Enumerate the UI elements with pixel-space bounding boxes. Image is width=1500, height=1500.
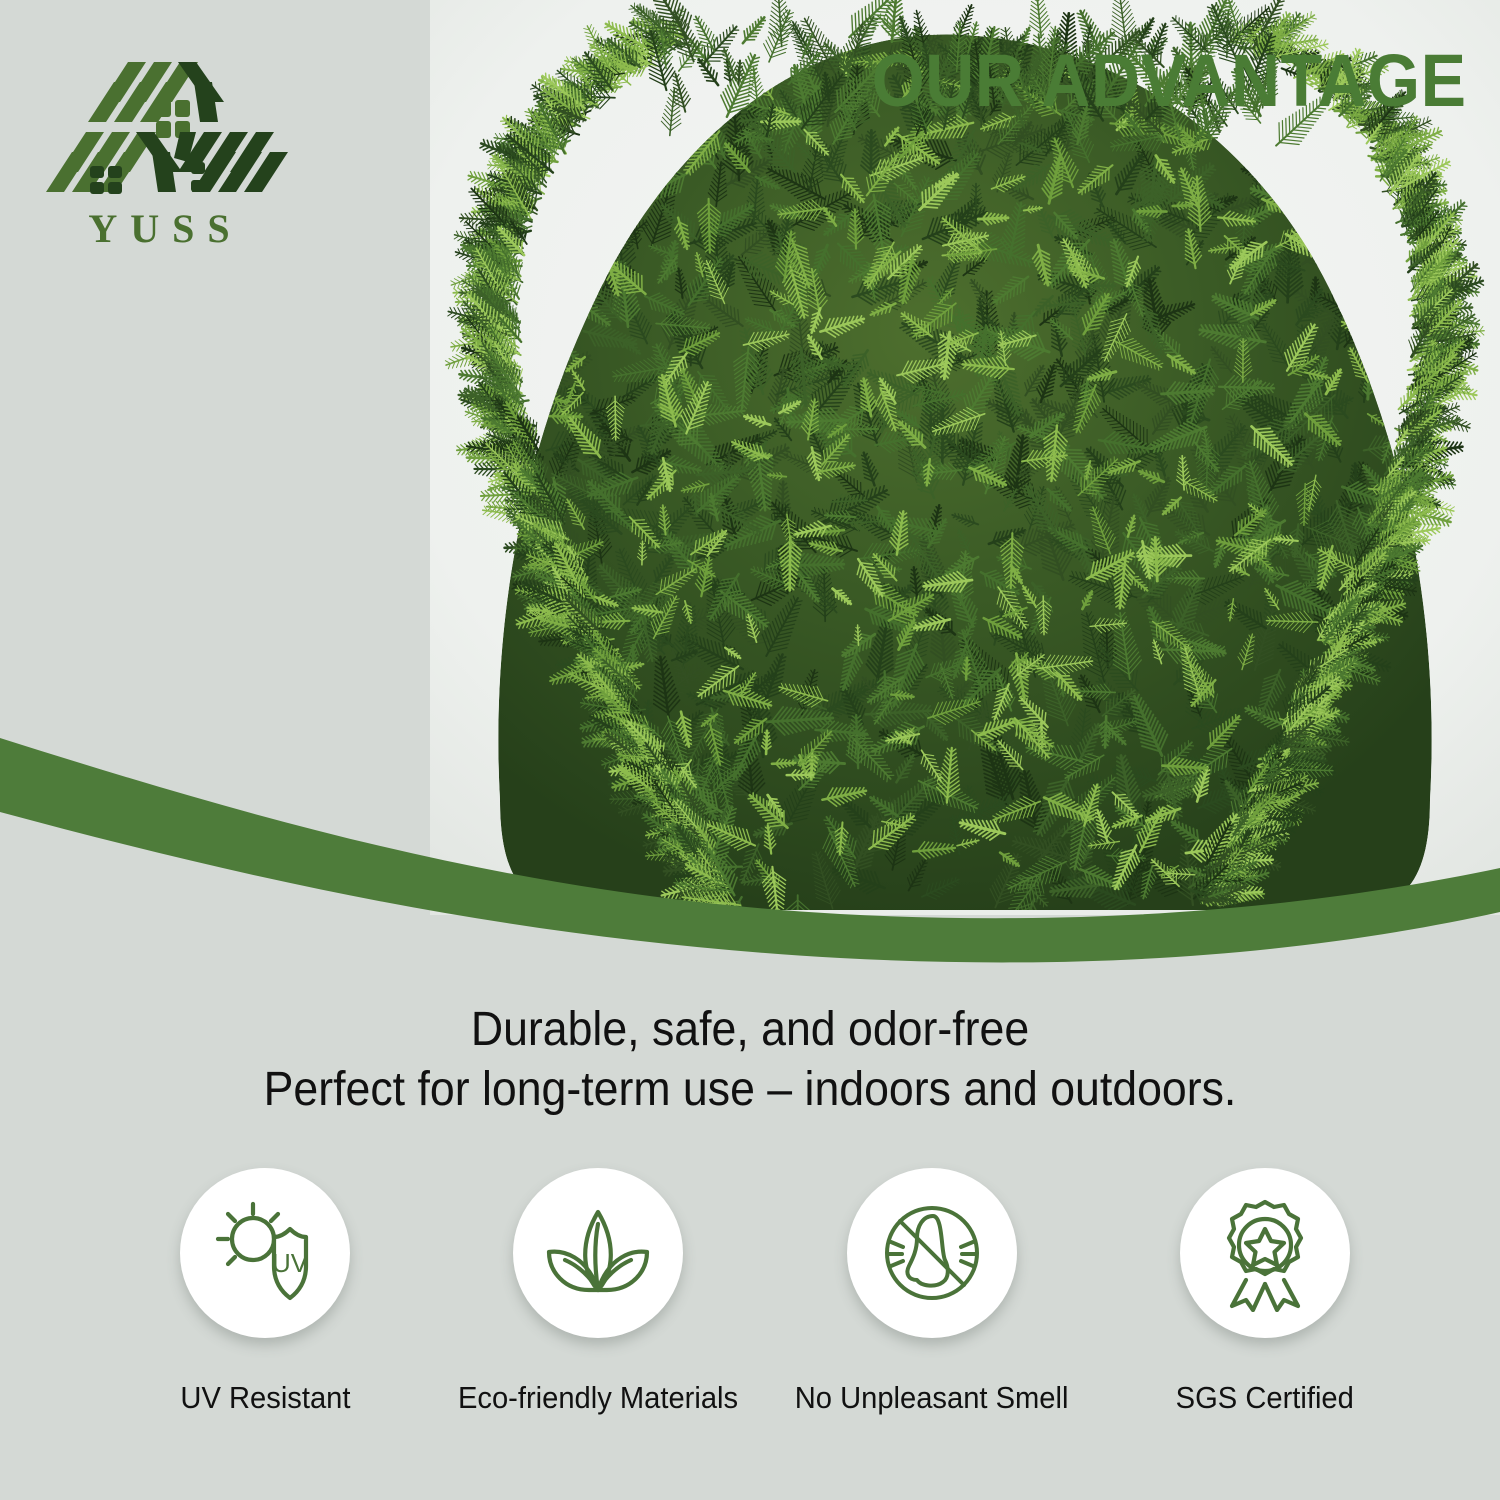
feature-badge bbox=[847, 1168, 1017, 1338]
feature-label: No Unpleasant Smell bbox=[795, 1380, 1069, 1416]
feature-eco-friendly[interactable]: Eco-friendly Materials bbox=[443, 1168, 753, 1416]
feature-sgs-certified[interactable]: SGS Certified bbox=[1110, 1168, 1420, 1416]
feature-label: Eco-friendly Materials bbox=[458, 1380, 738, 1416]
topiary-photo-graphic bbox=[430, 0, 1500, 915]
brand-wordmark: YUSS bbox=[28, 209, 290, 249]
feature-badge: UV bbox=[180, 1168, 350, 1338]
feature-uv-resistant[interactable]: UV UV Resistant bbox=[110, 1168, 420, 1416]
uv-label: UV bbox=[272, 1248, 309, 1278]
leaves-icon bbox=[539, 1194, 657, 1312]
tagline-line-1: Durable, safe, and odor-free bbox=[53, 1000, 1448, 1060]
feature-label: UV Resistant bbox=[180, 1380, 350, 1416]
brand-logo[interactable]: YUSS bbox=[28, 46, 318, 249]
feature-label: SGS Certified bbox=[1176, 1380, 1354, 1416]
uv-shield-sun-icon: UV bbox=[206, 1194, 324, 1312]
feature-no-smell[interactable]: No Unpleasant Smell bbox=[777, 1168, 1087, 1416]
award-rosette-icon bbox=[1206, 1194, 1324, 1312]
advantage-poster: YUSS OUR ADVANTAGE Durable, safe, and od… bbox=[0, 0, 1500, 1500]
hero-image bbox=[430, 0, 1500, 915]
tagline: Durable, safe, and odor-free Perfect for… bbox=[53, 1000, 1448, 1119]
no-smell-nose-icon bbox=[873, 1194, 991, 1312]
feature-list: UV UV Resistant Eco-friendly bbox=[110, 1168, 1420, 1416]
house-roof-logo-icon bbox=[28, 46, 290, 201]
tagline-line-2: Perfect for long-term use – indoors and … bbox=[53, 1060, 1448, 1120]
feature-badge bbox=[1180, 1168, 1350, 1338]
page-title: OUR ADVANTAGE bbox=[871, 44, 1466, 118]
feature-badge bbox=[513, 1168, 683, 1338]
